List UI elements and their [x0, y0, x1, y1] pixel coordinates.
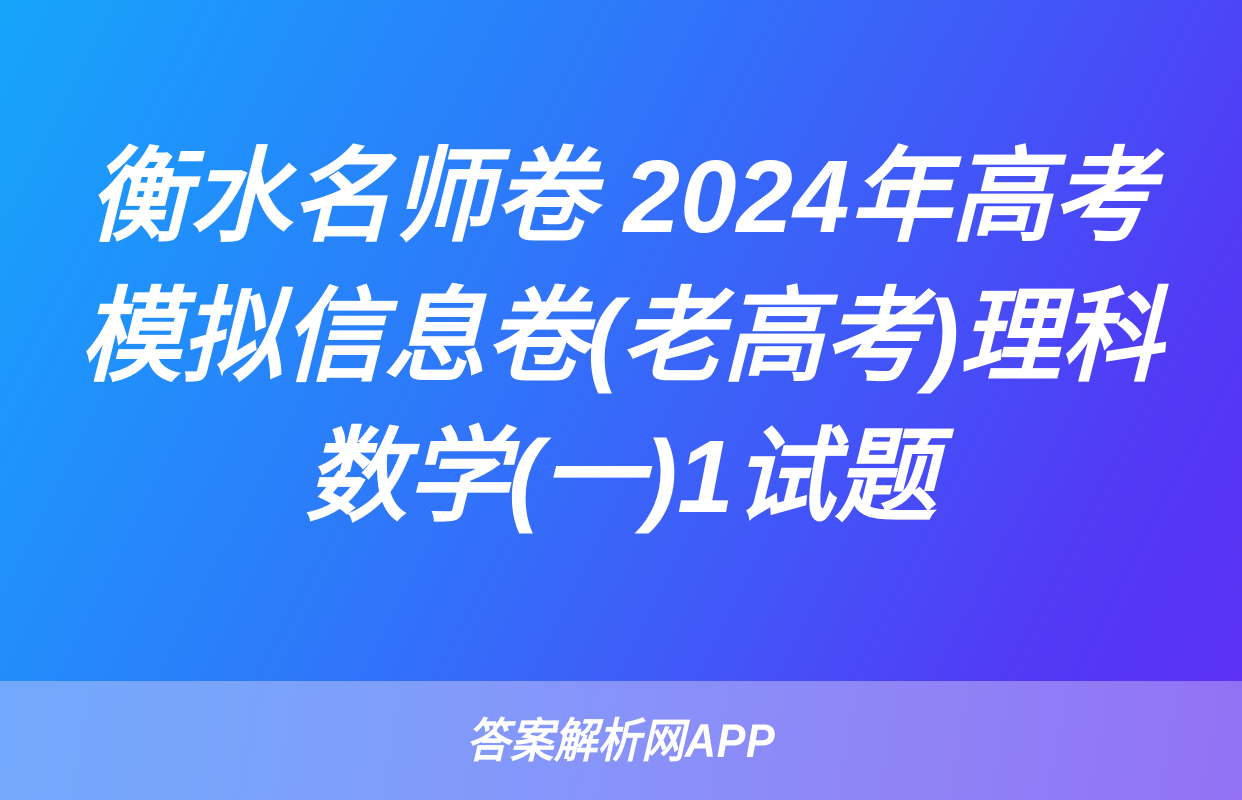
title-line-2: 模拟信息卷(老高考)理科 [55, 267, 1188, 407]
footer-brand-label: 答案解析网APP [467, 713, 776, 769]
footer-brand-container: 答案解析网APP [0, 681, 1242, 800]
title-line-1: 衡水名师卷 2024年高考 [55, 127, 1188, 267]
title-block: 衡水名师卷 2024年高考 模拟信息卷(老高考)理科 数学(一)1试题 [0, 0, 1242, 681]
title-line-3: 数学(一)1试题 [55, 407, 1188, 547]
poster-canvas: 衡水名师卷 2024年高考 模拟信息卷(老高考)理科 数学(一)1试题 答案解析… [0, 0, 1242, 800]
